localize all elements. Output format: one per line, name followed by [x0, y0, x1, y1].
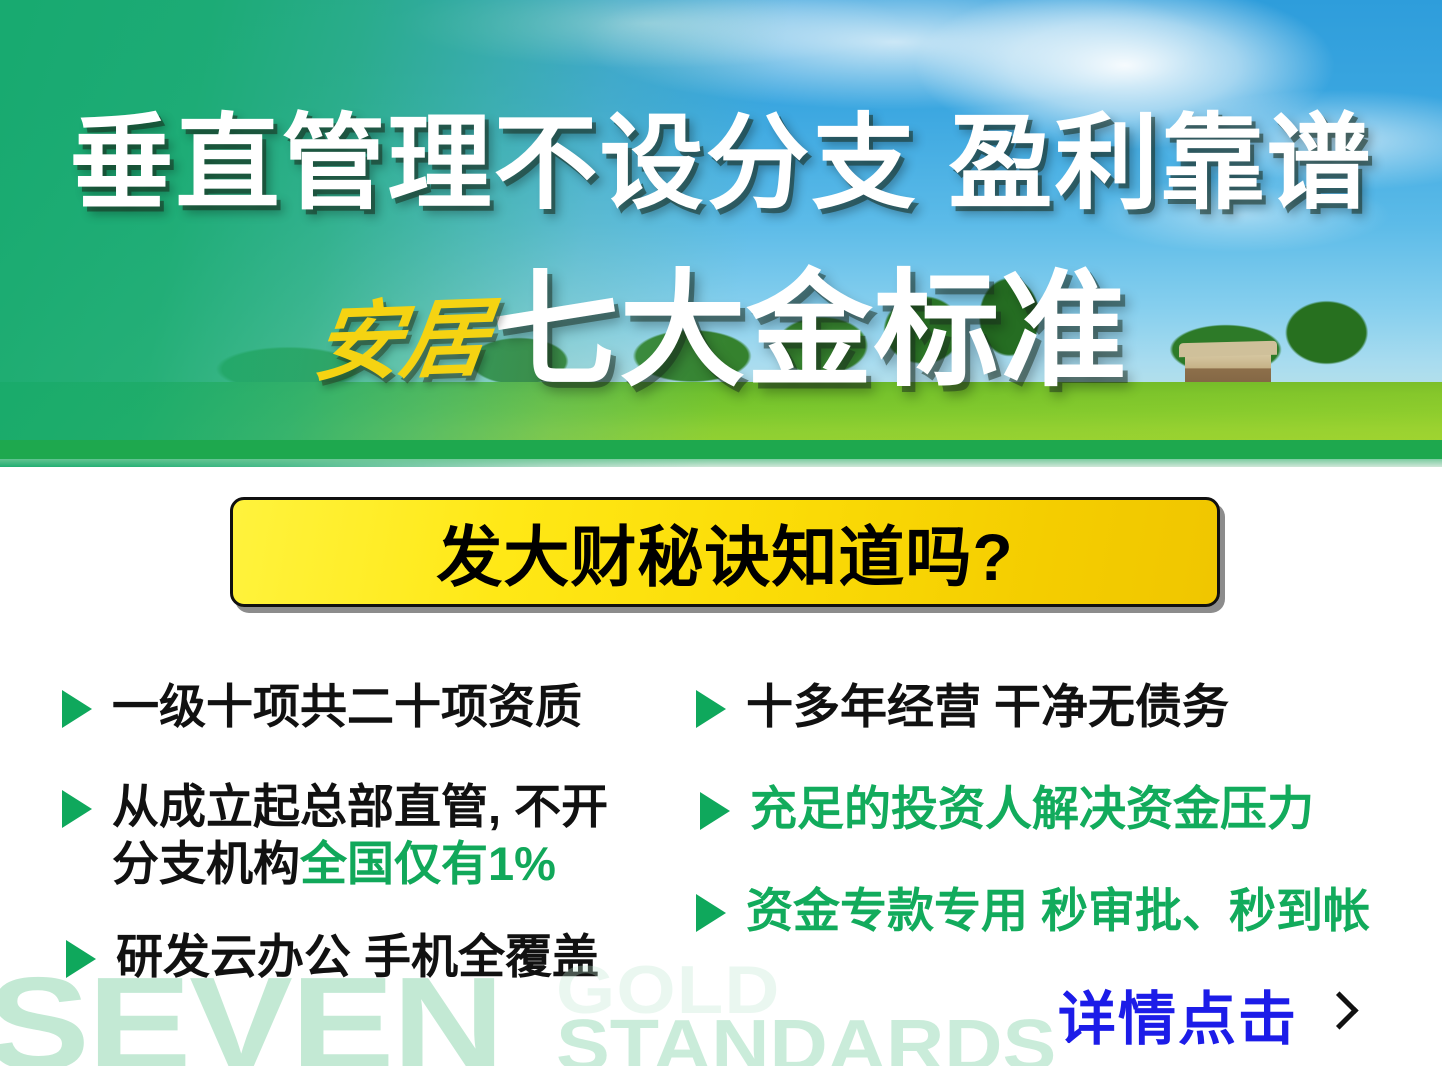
feature-item: 研发云办公 手机全覆盖 [66, 928, 599, 985]
triangle-bullet-icon [62, 790, 92, 828]
triangle-bullet-icon [66, 940, 96, 978]
feature-list: 一级十项共二十项资质 从成立起总部直管, 不开 分支机构全国仅有1% 研发云办公… [0, 660, 1442, 990]
hook-question-text: 发大财秘诀知道吗? [436, 504, 1013, 600]
feature-text: 研发云办公 手机全覆盖 [116, 928, 599, 985]
feature-item: 十多年经营 干净无债务 [696, 678, 1229, 735]
brand-mark: 安居 [308, 295, 493, 397]
hook-question-banner[interactable]: 发大财秘诀知道吗? [230, 497, 1220, 607]
promo-banner: 垂直管理不设分支 盈利靠谱 安居 七大金标准 发大财秘诀知道吗? 一级十项共二十… [0, 0, 1442, 1066]
feature-text: 一级十项共二十项资质 [112, 678, 582, 735]
feature-text: 充足的投资人解决资金压力 [750, 780, 1314, 837]
feature-text-highlight: 全国仅有1% [300, 837, 556, 890]
feature-text: 从成立起总部直管, 不开 分支机构全国仅有1% [112, 778, 608, 893]
triangle-bullet-icon [62, 690, 92, 728]
details-link-label: 详情点击 [1058, 972, 1298, 1056]
feature-text: 十多年经营 干净无债务 [746, 678, 1229, 735]
hero-bottom-green-bar [0, 440, 1442, 459]
chevron-right-icon [1324, 991, 1350, 1037]
feature-text-line1: 从成立起总部直管, 不开 [112, 780, 608, 833]
feature-item: 从成立起总部直管, 不开 分支机构全国仅有1% [62, 778, 608, 893]
watermark-standards: STANDARDS [556, 1010, 1056, 1066]
triangle-bullet-icon [696, 894, 726, 932]
feature-item: 一级十项共二十项资质 [62, 678, 582, 735]
triangle-bullet-icon [696, 690, 726, 728]
hero-subline: 安居 七大金标准 [0, 268, 1442, 394]
hero-bottom-fade [0, 459, 1442, 467]
hero-subtitle: 七大金标准 [493, 268, 1128, 394]
feature-item: 充足的投资人解决资金压力 [700, 780, 1314, 837]
feature-text: 资金专款专用 秒审批、秒到帐 [746, 882, 1370, 939]
hero-headline: 垂直管理不设分支 盈利靠谱 [0, 112, 1442, 216]
hero-section: 垂直管理不设分支 盈利靠谱 安居 七大金标准 [0, 0, 1442, 467]
feature-item: 资金专款专用 秒审批、秒到帐 [696, 882, 1370, 939]
feature-text-prefix: 分支机构 [112, 837, 300, 890]
details-link[interactable]: 详情点击 [1058, 972, 1350, 1056]
triangle-bullet-icon [700, 792, 730, 830]
feature-text-line2: 分支机构全国仅有1% [112, 835, 608, 892]
